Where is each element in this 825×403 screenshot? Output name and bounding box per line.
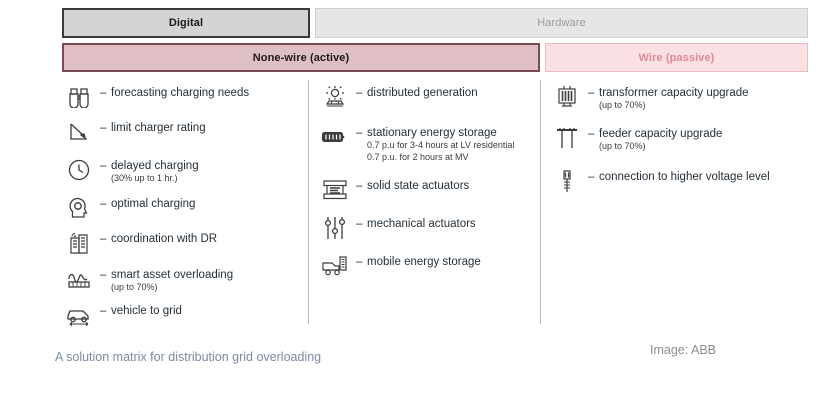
list-item-label: mechanical actuators (367, 218, 476, 231)
column-divider-2 (540, 80, 541, 324)
item-dash: – (588, 171, 599, 183)
tab-digital[interactable]: Digital (62, 8, 310, 38)
solution-matrix: Digital Hardware None-wire (active) Wire… (0, 0, 825, 403)
list-item-label: delayed charging (111, 160, 199, 173)
item-dash: – (100, 269, 111, 281)
list-item[interactable]: – distributed generation (318, 82, 478, 112)
item-dash: – (588, 87, 599, 99)
item-dash: – (588, 128, 599, 140)
item-dash: – (100, 122, 111, 134)
list-item-text: – vehicle to grid (96, 300, 182, 318)
item-dash: – (100, 198, 111, 210)
list-item-label: coordination with DR (111, 233, 217, 246)
truck-icon (318, 251, 352, 281)
battery-icon (318, 122, 352, 152)
list-item-text: – coordination with DR (96, 228, 217, 246)
tab-hardware[interactable]: Hardware (315, 8, 808, 38)
matrix-columns: – forecasting charging needs – limit cha… (62, 80, 808, 324)
list-item-sub: (up to 70%) (100, 282, 233, 294)
list-item-sub-2: 0.7 p.u. for 2 hours at MV (356, 152, 514, 164)
header-row-category: Digital Hardware (62, 8, 808, 38)
item-dash: – (100, 305, 111, 317)
list-item-label: vehicle to grid (111, 305, 182, 318)
head-gear-icon (62, 193, 96, 223)
list-item[interactable]: – mechanical actuators (318, 213, 476, 243)
transformer-icon (550, 82, 584, 112)
list-item[interactable]: – solid state actuators (318, 175, 469, 205)
list-item-text: – mobile energy storage (352, 251, 481, 269)
list-item-label: feeder capacity upgrade (599, 128, 722, 141)
list-item-label: solid state actuators (367, 180, 469, 193)
tab-none-wire-active[interactable]: None-wire (active) (62, 43, 540, 72)
faders-icon (318, 213, 352, 243)
list-item-text: – feeder capacity upgrade (up to 70%) (584, 123, 722, 153)
column-hardware-none-wire: – distributed generation – sta (318, 80, 540, 324)
list-item[interactable]: – feeder capacity upgrade (up to 70%) (550, 123, 722, 153)
list-item-label: connection to higher voltage level (599, 171, 770, 184)
wave-asset-icon (62, 264, 96, 294)
list-item[interactable]: – transformer capacity upgrade (up to 70… (550, 82, 749, 112)
tab-wire-label: Wire (passive) (639, 52, 715, 64)
item-dash: – (356, 218, 367, 230)
list-item-text: – smart asset overloading (up to 70%) (96, 264, 233, 294)
list-item-label: forecasting charging needs (111, 87, 249, 100)
list-item-label: mobile energy storage (367, 256, 481, 269)
list-item-label: limit charger rating (111, 122, 206, 135)
item-dash: – (100, 87, 111, 99)
list-item[interactable]: – coordination with DR (62, 228, 217, 258)
figure-caption: A solution matrix for distribution grid … (55, 350, 321, 364)
item-dash: – (100, 160, 111, 172)
solar-panel-icon (318, 82, 352, 112)
tab-wire-passive[interactable]: Wire (passive) (545, 43, 808, 72)
list-item[interactable]: – delayed charging (30% up to 1 hr.) (62, 155, 199, 185)
list-item[interactable]: – forecasting charging needs (62, 82, 249, 112)
list-item[interactable]: – connection to higher voltage level (550, 166, 770, 196)
list-item-label: optimal charging (111, 198, 195, 211)
list-item-label: stationary energy storage (367, 127, 497, 140)
image-credit: Image: ABB (650, 343, 716, 357)
list-item[interactable]: – smart asset overloading (up to 70%) (62, 264, 233, 294)
item-dash: – (356, 256, 367, 268)
solid-state-actuator-icon (318, 175, 352, 205)
item-dash: – (356, 87, 367, 99)
list-item-label: transformer capacity upgrade (599, 87, 749, 100)
list-item-sub: (30% up to 1 hr.) (100, 173, 199, 185)
list-item-text: – connection to higher voltage level (584, 166, 770, 184)
declining-ramp-icon (62, 117, 96, 147)
list-item[interactable]: – stationary energy storage 0.7 p.u for … (318, 122, 514, 163)
list-item[interactable]: – optimal charging (62, 193, 195, 223)
list-item-label: distributed generation (367, 87, 478, 100)
voltage-connector-icon (550, 166, 584, 196)
list-item-text: – delayed charging (30% up to 1 hr.) (96, 155, 199, 185)
list-item-text: – solid state actuators (352, 175, 469, 193)
list-item-text: – distributed generation (352, 82, 478, 100)
list-item-label: smart asset overloading (111, 269, 233, 282)
list-item-sub: (up to 70%) (588, 100, 749, 112)
list-item-sub: (up to 70%) (588, 141, 722, 153)
list-item[interactable]: – mobile energy storage (318, 251, 481, 281)
feeder-pole-icon (550, 123, 584, 153)
tab-none-wire-label: None-wire (active) (253, 52, 350, 64)
item-dash: – (356, 127, 367, 139)
list-item-text: – optimal charging (96, 193, 195, 211)
header-row-subcategory: None-wire (active) Wire (passive) (62, 43, 808, 72)
list-item-text: – mechanical actuators (352, 213, 476, 231)
column-divider-1 (308, 80, 309, 324)
item-dash: – (100, 233, 111, 245)
buildings-signal-icon (62, 228, 96, 258)
list-item-text: – transformer capacity upgrade (up to 70… (584, 82, 749, 112)
tab-hardware-label: Hardware (537, 17, 586, 29)
clock-icon (62, 155, 96, 185)
list-item[interactable]: – vehicle to grid (62, 300, 182, 330)
column-hardware-wire: – transformer capacity upgrade (up to 70… (550, 80, 808, 324)
binoculars-icon (62, 82, 96, 112)
item-dash: – (356, 180, 367, 192)
vehicle-to-grid-icon (62, 300, 96, 330)
list-item-text: – stationary energy storage 0.7 p.u for … (352, 122, 514, 163)
list-item-text: – limit charger rating (96, 117, 206, 135)
list-item-sub: 0.7 p.u for 3-4 hours at LV residential (356, 140, 514, 152)
column-digital-none-wire: – forecasting charging needs – limit cha… (62, 80, 308, 324)
list-item[interactable]: – limit charger rating (62, 117, 206, 147)
tab-digital-label: Digital (169, 17, 203, 29)
list-item-text: – forecasting charging needs (96, 82, 249, 100)
